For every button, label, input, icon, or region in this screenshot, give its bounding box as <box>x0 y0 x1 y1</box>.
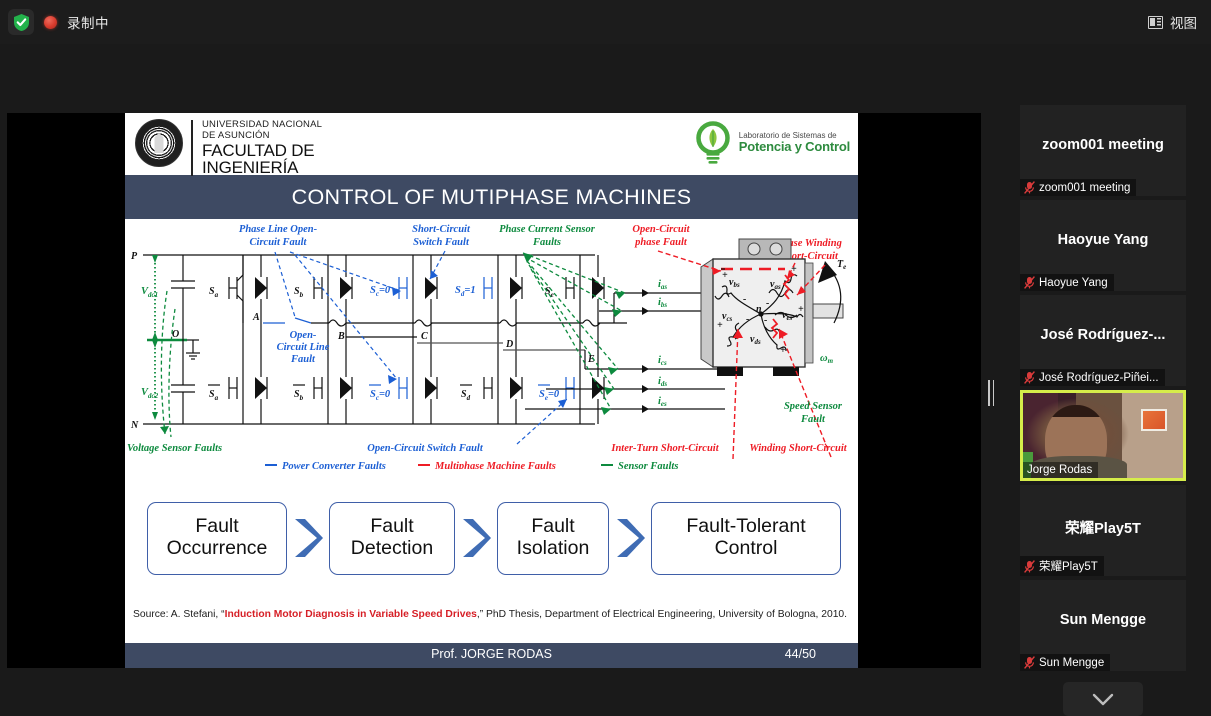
participant-name-bar: Jorge Rodas <box>1023 462 1098 478</box>
flow-step-4-line-2: Control <box>715 537 778 559</box>
slide-footer: Prof. JORGE RODAS 44/50 <box>125 643 858 668</box>
presenter-name: Prof. JORGE RODAS <box>125 647 858 661</box>
svg-text:Phase Current Sensor: Phase Current Sensor <box>499 224 596 235</box>
participant-name-bar: José Rodríguez-Piñei... <box>1020 369 1165 386</box>
mic-muted-icon <box>1024 560 1035 573</box>
svg-text:A: A <box>252 312 260 323</box>
svg-text:Sd: Sd <box>461 389 471 402</box>
mic-muted-icon <box>1024 181 1035 194</box>
svg-text:Switch Fault: Switch Fault <box>413 237 470 248</box>
participant-name-label: zoom001 meeting <box>1039 182 1130 194</box>
lab-logo: Laboratorio de Sistemas de Potencia y Co… <box>692 120 850 166</box>
chevron-right-arrow-icon <box>291 515 325 561</box>
flow-step-1-line-2: Occurrence <box>167 537 268 559</box>
fault-diagram-figure: .bl{fill:#1c5fd4;font-family:"Liberation… <box>125 219 858 469</box>
participant-display-name: 荣耀Play5T <box>1020 517 1186 538</box>
flow-step-3-line-1: Fault <box>531 515 574 537</box>
svg-text:-: - <box>743 294 746 305</box>
university-wordmark: UNIVERSIDAD NACIONAL DE ASUNCIÓN FACULTA… <box>191 120 322 176</box>
svg-text:Open-Circuit: Open-Circuit <box>632 224 690 235</box>
flow-step-fault-detection[interactable]: Fault Detection <box>329 502 455 575</box>
participant-name-label: Jorge Rodas <box>1027 464 1092 476</box>
svg-text:D: D <box>505 339 513 350</box>
svg-text:-: - <box>746 314 749 325</box>
recording-dot-icon[interactable] <box>44 16 57 29</box>
view-button[interactable]: 视图 <box>1148 12 1197 32</box>
slide-title: CONTROL OF MUTIPHASE MACHINES <box>292 185 692 210</box>
flow-step-fault-occurrence[interactable]: Fault Occurrence <box>147 502 287 575</box>
svg-text:Vdc2: Vdc2 <box>141 387 159 400</box>
drag-handle-line-1 <box>988 380 990 406</box>
flow-step-fault-tolerant-control[interactable]: Fault-Tolerant Control <box>651 502 841 575</box>
top-bar: 录制中 视图 <box>0 0 1211 44</box>
university-seal-icon <box>135 119 183 167</box>
svg-text:ωm: ωm <box>820 353 834 365</box>
participant-name-label: Sun Mengge <box>1039 657 1104 669</box>
svg-text:P: P <box>131 251 138 262</box>
shared-screen-stage[interactable]: UNIVERSIDAD NACIONAL DE ASUNCIÓN FACULTA… <box>7 113 981 668</box>
panel-drag-handle[interactable] <box>986 380 996 406</box>
participant-name-label: 荣耀Play5T <box>1039 558 1098 574</box>
participant-display-name: zoom001 meeting <box>1020 137 1186 153</box>
svg-text:+: + <box>717 320 723 331</box>
participant-name-bar: Sun Mengge <box>1020 654 1110 671</box>
presentation-slide: UNIVERSIDAD NACIONAL DE ASUNCIÓN FACULTA… <box>125 113 858 668</box>
participant-name-bar: 荣耀Play5T <box>1020 556 1104 576</box>
participant-video-panel: zoom001 meeting zoom001 meeting Haoyue Y… <box>1020 105 1186 675</box>
mic-muted-icon <box>1024 656 1035 669</box>
svg-text:Multiphase Machine Faults: Multiphase Machine Faults <box>434 461 556 469</box>
svg-text:Sc=0: Sc=0 <box>370 389 391 402</box>
chevron-right-arrow-icon-3 <box>613 515 647 561</box>
svg-text:ibs: ibs <box>658 297 667 309</box>
university-line-1: UNIVERSIDAD NACIONAL <box>202 120 322 130</box>
svg-text:ias: ias <box>658 279 667 291</box>
flow-step-2-line-1: Fault <box>370 515 413 537</box>
svg-text:Winding Short-Circuit: Winding Short-Circuit <box>749 443 847 454</box>
svg-text:Te: Te <box>837 259 846 271</box>
recording-label: 录制中 <box>67 12 109 32</box>
participant-tile-jose-rodriguez[interactable]: José Rodríguez-... José Rodríguez-Piñei.… <box>1020 295 1186 386</box>
svg-text:B: B <box>337 331 345 342</box>
svg-text:Faults: Faults <box>532 237 561 248</box>
flow-step-4-line-1: Fault-Tolerant <box>686 515 805 537</box>
svg-text:C: C <box>421 331 428 342</box>
source-citation: Source: A. Stefani, “Induction Motor Dia… <box>133 608 850 622</box>
participant-name-bar: zoom001 meeting <box>1020 179 1136 196</box>
svg-text:+: + <box>798 304 804 315</box>
svg-text:Circuit Line: Circuit Line <box>277 342 330 353</box>
flow-step-2-line-2: Detection <box>351 537 433 559</box>
svg-text:Sb: Sb <box>294 389 304 402</box>
svg-text:Sa: Sa <box>209 389 219 402</box>
recording-indicator-group: 录制中 <box>8 9 109 35</box>
participant-name-label: Haoyue Yang <box>1039 277 1108 289</box>
svg-text:Open-Circuit Switch Fault: Open-Circuit Switch Fault <box>367 443 484 454</box>
participant-display-name: José Rodríguez-... <box>1020 327 1186 343</box>
svg-text:ics: ics <box>658 355 667 367</box>
mic-muted-icon <box>1024 276 1035 289</box>
lab-wordmark: Laboratorio de Sistemas de Potencia y Co… <box>739 132 850 154</box>
svg-text:Voltage Sensor Faults: Voltage Sensor Faults <box>127 443 222 454</box>
svg-text:Circuit Fault: Circuit Fault <box>250 237 308 248</box>
svg-text:Open-: Open- <box>290 330 317 341</box>
svg-text:-: - <box>766 298 769 309</box>
source-suffix: ,” PhD Thesis, Department of Electrical … <box>477 609 847 620</box>
svg-text:Short-Circuit: Short-Circuit <box>412 224 471 235</box>
participant-display-name: Haoyue Yang <box>1020 232 1186 248</box>
participant-tile-jorge-rodas-active-speaker[interactable]: Jorge Rodas <box>1020 390 1186 481</box>
svg-text:Fault: Fault <box>800 414 826 425</box>
svg-text:Fault: Fault <box>290 354 316 365</box>
participant-tile-zoom001-meeting[interactable]: zoom001 meeting zoom001 meeting <box>1020 105 1186 196</box>
svg-text:Phase Line Open-: Phase Line Open- <box>239 224 318 235</box>
drag-handle-line-2 <box>993 380 995 406</box>
flow-step-fault-isolation[interactable]: Fault Isolation <box>497 502 609 575</box>
view-label: 视图 <box>1170 12 1197 32</box>
mic-muted-icon <box>1024 371 1035 384</box>
source-prefix: Source: A. Stefani, “ <box>133 609 225 620</box>
svg-text:Sc=0: Sc=0 <box>370 285 391 298</box>
svg-text:Sa: Sa <box>209 286 219 299</box>
participant-tile-sun-mengge[interactable]: Sun Mengge Sun Mengge <box>1020 580 1186 671</box>
svg-text:ies: ies <box>658 396 667 408</box>
svg-text:Speed Sensor: Speed Sensor <box>784 401 843 412</box>
svg-text:ids: ids <box>658 376 667 388</box>
flow-step-3-line-2: Isolation <box>517 537 590 559</box>
slide-header: UNIVERSIDAD NACIONAL DE ASUNCIÓN FACULTA… <box>125 113 858 175</box>
lab-line-2: Potencia y Control <box>739 140 850 154</box>
participant-tile-haoyue-yang[interactable]: Haoyue Yang Haoyue Yang <box>1020 200 1186 291</box>
view-layout-icon <box>1148 16 1163 29</box>
svg-text:Sensor Faults: Sensor Faults <box>618 461 678 469</box>
university-line-3: FACULTAD DE <box>202 142 322 159</box>
svg-text:Power Converter Faults: Power Converter Faults <box>282 461 386 469</box>
slide-page-number: 44/50 <box>785 647 816 661</box>
source-highlight: Induction Motor Diagnosis in Variable Sp… <box>225 609 477 620</box>
participant-scroll-down-button[interactable] <box>1063 682 1143 716</box>
fault-handling-flow: Fault Occurrence Fault Detection <box>147 498 847 578</box>
participant-display-name: Sun Mengge <box>1020 612 1186 628</box>
participant-tile-honor-play5t[interactable]: 荣耀Play5T 荣耀Play5T <box>1020 485 1186 576</box>
zoom-meeting-window: 录制中 视图 UNIVERSIDAD NACIONAL DE ASUNCIÓN … <box>0 0 1211 716</box>
chevron-down-icon <box>1092 693 1114 706</box>
svg-text:-: - <box>764 315 767 326</box>
svg-text:+: + <box>780 345 786 356</box>
svg-text:N: N <box>130 420 139 431</box>
svg-text:Sb: Sb <box>294 286 304 299</box>
chevron-right-arrow-icon-2 <box>459 515 493 561</box>
svg-text:O: O <box>172 329 179 340</box>
fault-diagram-svg: .bl{fill:#1c5fd4;font-family:"Liberation… <box>125 219 858 469</box>
university-line-4: INGENIERÍA <box>202 159 322 176</box>
svg-text:phase Fault: phase Fault <box>634 237 688 248</box>
lightbulb-leaf-icon <box>692 120 734 166</box>
svg-text:Sd=1: Sd=1 <box>455 285 476 298</box>
slide-title-bar: CONTROL OF MUTIPHASE MACHINES <box>125 175 858 219</box>
svg-text:Inter-Turn Short-Circuit: Inter-Turn Short-Circuit <box>610 443 719 454</box>
university-line-2: DE ASUNCIÓN <box>202 131 322 141</box>
svg-text:+: + <box>722 270 728 281</box>
shield-check-icon[interactable] <box>8 9 34 35</box>
participant-name-label: José Rodríguez-Piñei... <box>1039 372 1159 384</box>
svg-text:Se=0: Se=0 <box>539 389 560 402</box>
flow-step-1-line-1: Fault <box>195 515 238 537</box>
svg-text:n: n <box>756 304 762 315</box>
wall-picture-decoration <box>1141 409 1167 431</box>
participant-name-bar: Haoyue Yang <box>1020 274 1114 291</box>
